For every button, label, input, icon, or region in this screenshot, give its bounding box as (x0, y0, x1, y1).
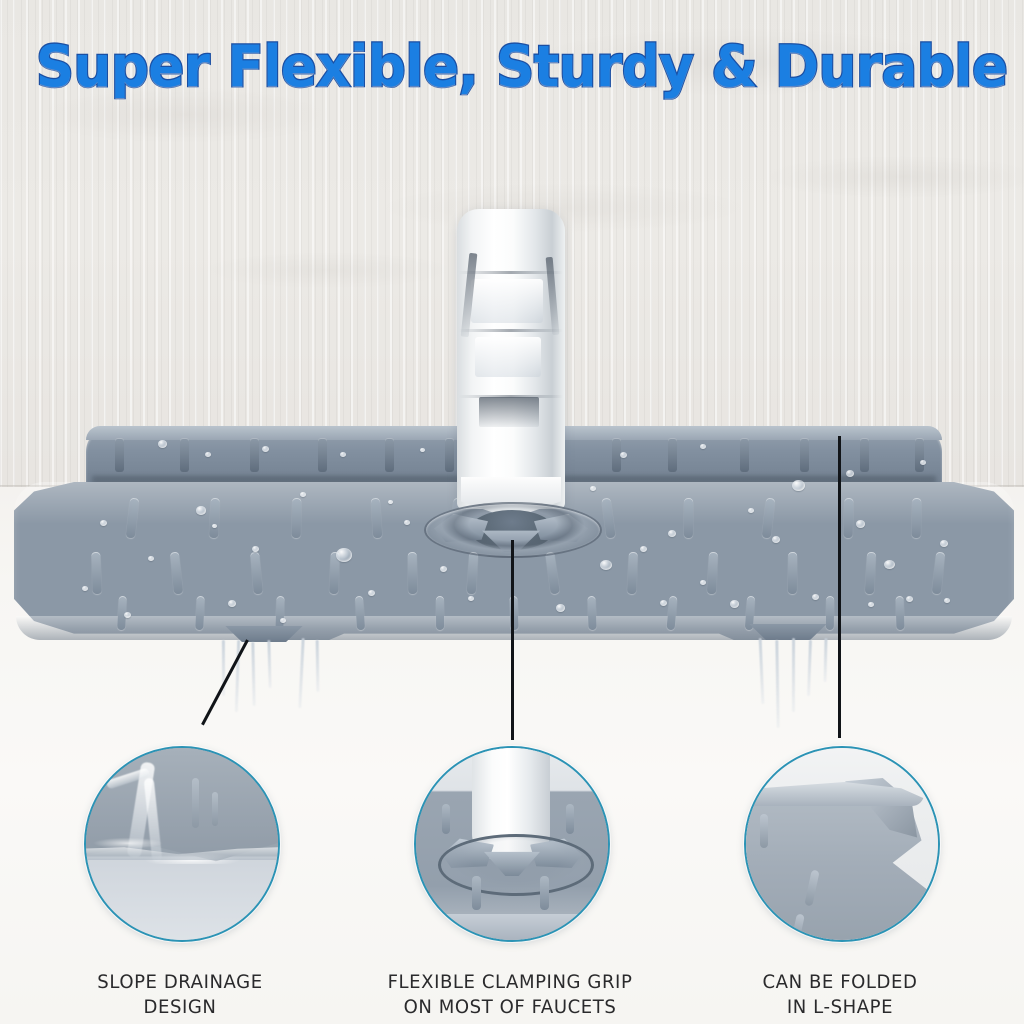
water-droplet (906, 596, 913, 602)
mat-deck-ridge (627, 552, 638, 594)
water-droplet (620, 452, 627, 458)
mat-back-ridge (115, 438, 124, 472)
water-droplet (792, 480, 805, 491)
caption-line-2: ON MOST OF FAUCETS (358, 995, 662, 1020)
callout-circle-l-shape-fold[interactable] (744, 746, 940, 942)
water-droplet (440, 566, 447, 572)
mat-deck-ridge (408, 552, 418, 594)
caption-line-2: IN L-SHAPE (688, 995, 992, 1020)
water-droplet (336, 548, 352, 562)
water-droplet (556, 604, 565, 612)
mat-deck-ridge (844, 498, 854, 538)
water-droplet (668, 530, 676, 537)
mat-deck-ridge (896, 596, 905, 630)
mat-deck-ridge (209, 498, 220, 538)
caption-line-1: SLOPE DRAINAGE (28, 970, 332, 995)
mat-back-ridge (800, 438, 809, 472)
water-droplet (252, 546, 259, 552)
callout-circle-slope-drainage[interactable] (84, 746, 280, 942)
mat-deck-ridge (788, 552, 797, 594)
mat-deck-ridge (684, 498, 693, 538)
water-droplet (660, 600, 667, 606)
page-title: Super Flexible, Sturdy & Durable (36, 34, 988, 100)
mat-back-ridge (860, 438, 869, 472)
water-droplet (124, 612, 131, 618)
water-droplet (640, 546, 647, 552)
water-droplet (228, 600, 236, 607)
mat-deck-ridge (912, 498, 922, 538)
mat-back-ridge (915, 438, 924, 472)
water-droplet (846, 470, 854, 477)
water-droplet (772, 536, 780, 543)
mat-deck-ridge (587, 596, 596, 630)
mat-deck-ridge (91, 552, 101, 594)
water-drip (792, 638, 795, 712)
mat-back-ridge (668, 438, 677, 472)
mat-deck-ridge (292, 498, 302, 538)
water-droplet (856, 520, 865, 528)
water-droplet (368, 590, 375, 596)
water-droplet (812, 594, 819, 600)
product-infographic: Super Flexible, Sturdy & Durable (0, 0, 1024, 1024)
leader-line-fold (838, 436, 841, 738)
water-droplet (262, 446, 269, 452)
mat-back-ridge (385, 438, 394, 472)
faucet (449, 209, 573, 521)
mat-deck-ridge (195, 596, 205, 630)
mat-back-ridge (250, 438, 259, 472)
water-droplet (940, 540, 948, 547)
leader-line-grip (511, 540, 514, 740)
mat-deck-ridge (826, 596, 834, 630)
callout-circle-clamping-grip[interactable] (414, 746, 610, 942)
mat-back-ridge (180, 438, 189, 472)
caption-slope-drainage: SLOPE DRAINAGE DESIGN (28, 970, 332, 1020)
mat-back-ridge (318, 438, 327, 472)
caption-line-1: FLEXIBLE CLAMPING GRIP (358, 970, 662, 995)
water-droplet (196, 506, 206, 515)
caption-line-2: DESIGN (28, 995, 332, 1020)
mat-deck-ridge (436, 596, 444, 630)
caption-clamping-grip: FLEXIBLE CLAMPING GRIP ON MOST OF FAUCET… (358, 970, 662, 1020)
mat-back-ridge (740, 438, 749, 472)
water-droplet (158, 440, 167, 448)
caption-l-shape-fold: CAN BE FOLDED IN L-SHAPE (688, 970, 992, 1020)
mat-deck-ridge (275, 596, 284, 630)
water-droplet (730, 600, 739, 608)
caption-line-1: CAN BE FOLDED (688, 970, 992, 995)
water-droplet (100, 520, 107, 526)
